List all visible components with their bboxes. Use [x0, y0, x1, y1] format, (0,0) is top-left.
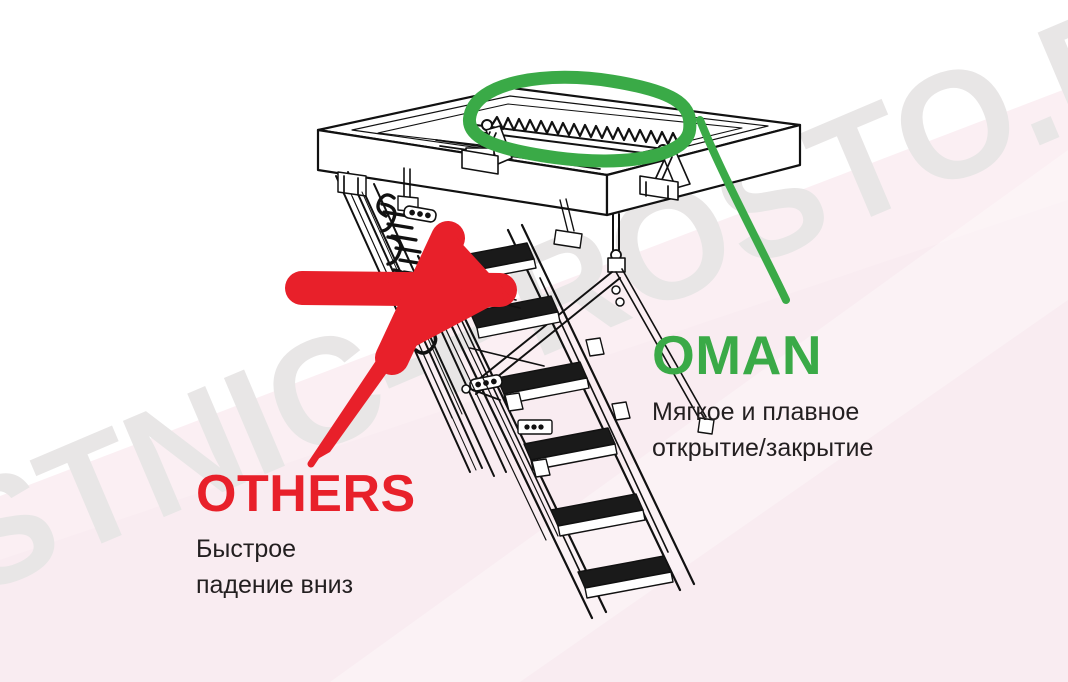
oman-title: OMAN — [652, 328, 873, 383]
red-down-arrow — [300, 236, 510, 464]
background-tint — [0, 0, 1068, 682]
ladder-illustration — [0, 0, 1068, 682]
image-canvas: LESTNIC-PROSTO.RU — [0, 0, 1068, 682]
others-subtitle-line1: Быстрое — [196, 532, 416, 568]
callout-others: OTHERS Быстрое падение вниз — [196, 468, 416, 603]
callout-oman: OMAN Мягкое и плавное открытие/закрытие — [652, 328, 873, 466]
oman-subtitle-line2: открытие/закрытие — [652, 431, 873, 467]
green-ellipse-highlight — [466, 66, 786, 300]
annotation-marks — [0, 0, 1068, 682]
watermark-lestnic-prosto-ru: LESTNIC-PROSTO.RU — [0, 0, 1068, 682]
oman-subtitle-line1: Мягкое и плавное — [652, 395, 873, 431]
others-title: OTHERS — [196, 468, 416, 520]
others-subtitle-line2: падение вниз — [196, 568, 416, 604]
watermark-text: LESTNIC-PROSTO.RU — [0, 0, 1068, 682]
